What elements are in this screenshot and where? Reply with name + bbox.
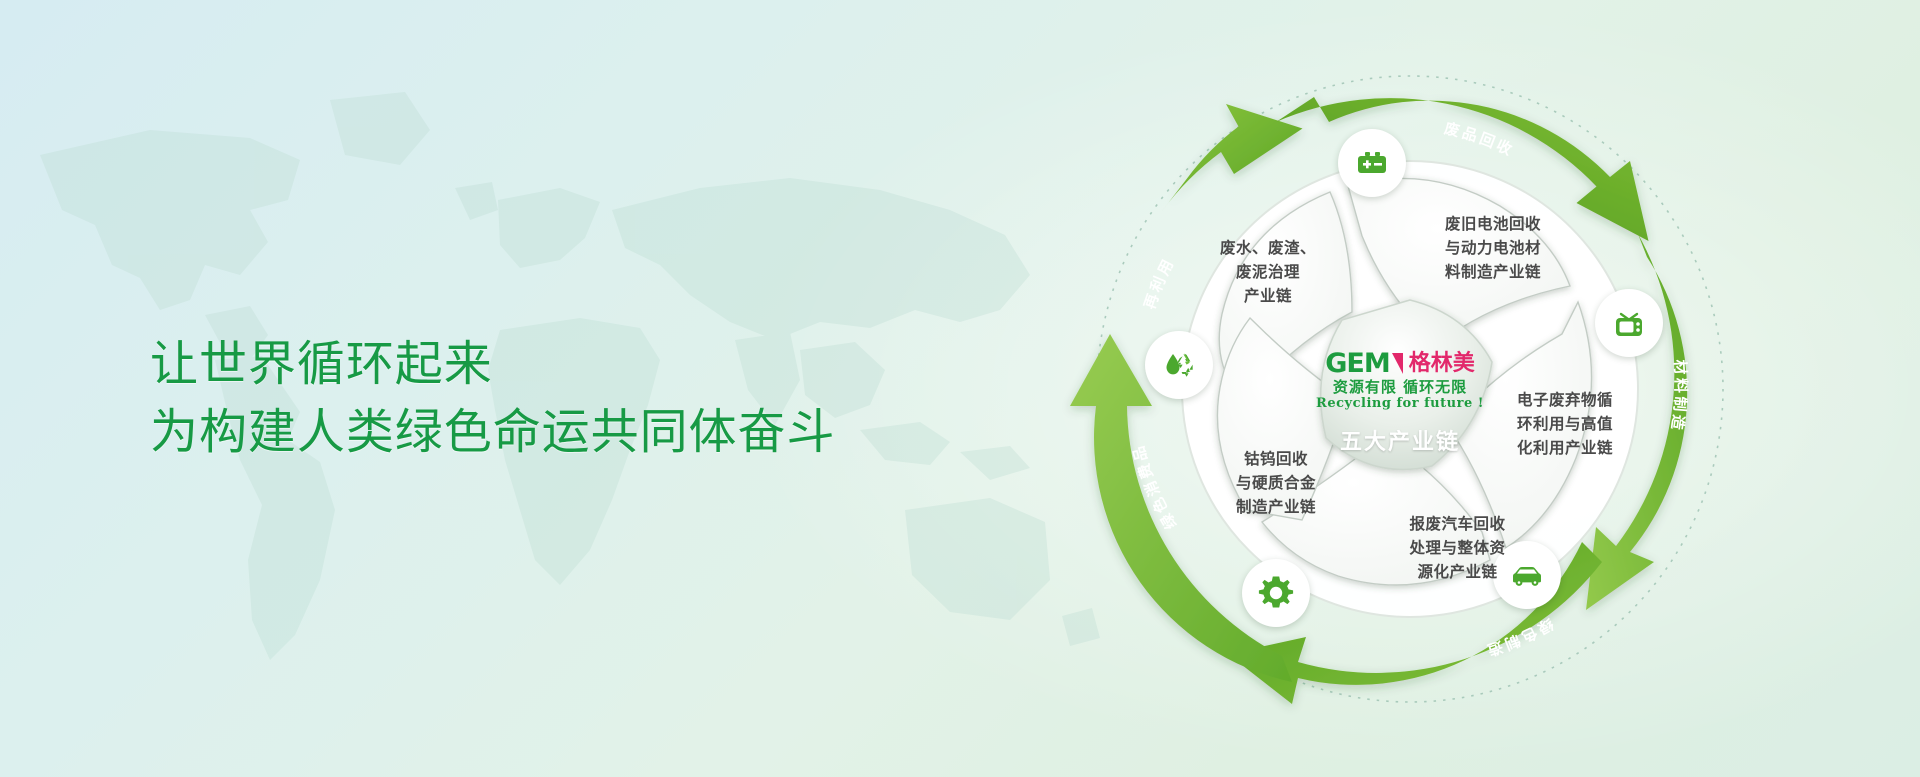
ring-label-reuse: 再利用 — [1140, 254, 1178, 311]
icon-bubble-tv[interactable] — [1595, 289, 1663, 357]
ring-label-waste-recovery-text: 废品回收 — [1443, 119, 1518, 160]
recycle-drop-icon — [1159, 345, 1199, 385]
tv-icon — [1610, 304, 1648, 342]
logo-chinese-name: 格林美 — [1409, 353, 1475, 375]
gear-icon — [1256, 573, 1296, 613]
logo-wordmark-row: GEM 格林美 — [1300, 350, 1500, 377]
battery-icon — [1353, 144, 1391, 182]
logo-gem-text: GEM — [1325, 350, 1389, 377]
logo-slogan-cn: 资源有限 循环无限 — [1300, 380, 1500, 395]
chain-label-waste-water-slag-sludge: 废水、废渣、 废泥治理 产业链 — [1183, 236, 1353, 308]
logo-triangle-icon — [1392, 353, 1403, 374]
ring-label-waste-recovery: 废品回收 — [1443, 119, 1518, 160]
headline-line-2: 为构建人类绿色命运共同体奋斗 — [150, 398, 835, 466]
icon-bubble-recycle-drop[interactable] — [1145, 331, 1213, 399]
headline-line-1: 让世界循环起来 — [150, 330, 835, 398]
chain-label-cobalt-tungsten-carbide: 钴钨回收 与硬质合金 制造产业链 — [1196, 447, 1356, 519]
ring-segment-reuse[interactable] — [1162, 104, 1303, 211]
banner-root: 让世界循环起来 为构建人类绿色命运共同体奋斗 — [0, 0, 1920, 777]
chain-label-e-waste-recycling: 电子废弃物循 环利用与高值 化利用产业链 — [1480, 388, 1650, 460]
ring-label-green-manufacturing: 绿色制造 — [1483, 615, 1557, 661]
chain-label-spent-battery-recycling: 废旧电池回收 与动力电池材 料制造产业链 — [1403, 212, 1583, 284]
chain-label-end-of-life-vehicle: 报废汽车回收 处理与整体资 源化产业链 — [1370, 512, 1545, 584]
icon-bubble-battery[interactable] — [1338, 129, 1406, 197]
icon-bubble-gear[interactable] — [1242, 559, 1310, 627]
ring-label-reuse-text: 再利用 — [1140, 254, 1178, 311]
logo-slogan-en: Recycling for future ! — [1300, 397, 1500, 410]
ring-label-green-manufacturing-text: 绿色制造 — [1483, 615, 1557, 661]
center-title: 五大产业链 — [1300, 432, 1500, 454]
gem-brand-logo: GEM 格林美 资源有限 循环无限 Recycling for future !… — [1300, 350, 1500, 454]
page-title: 让世界循环起来 为构建人类绿色命运共同体奋斗 — [150, 330, 835, 466]
